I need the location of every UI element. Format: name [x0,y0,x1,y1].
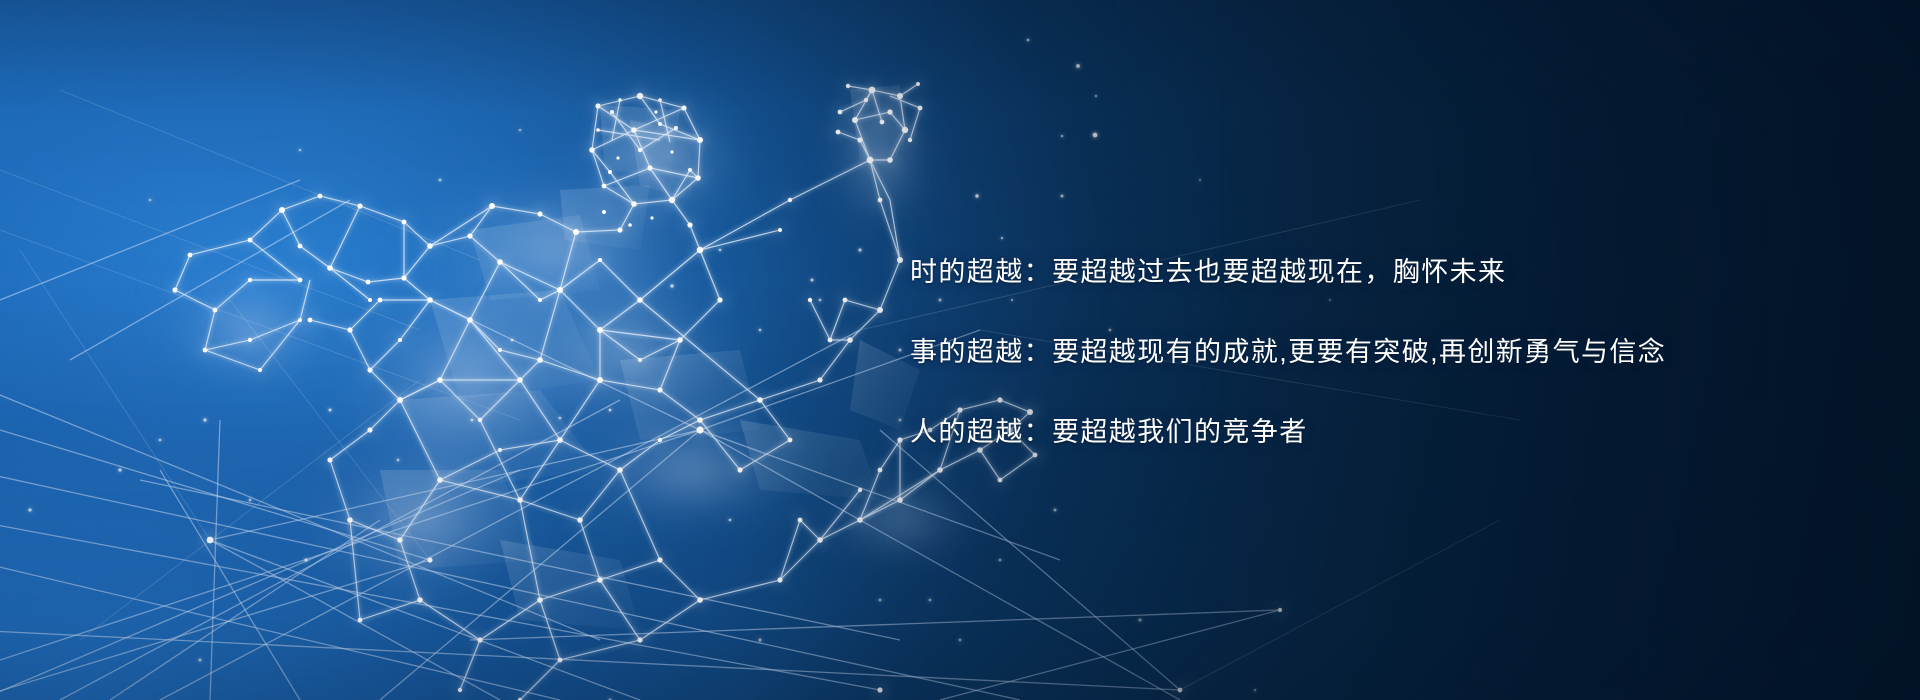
slogan-line-2: 事的超越：要超越现有的成就,更要有突破,再创新勇气与信念 [910,312,1810,392]
slogan-line-1: 时的超越：要超越过去也要超越现在，胸怀未来 [910,232,1810,312]
slogan-line-3: 人的超越：要超越我们的竞争者 [910,392,1810,472]
slogan-text-block: 时的超越：要超越过去也要超越现在，胸怀未来 事的超越：要超越现有的成就,更要有突… [910,232,1810,472]
hero-banner: 时的超越：要超越过去也要超越现在，胸怀未来 事的超越：要超越现有的成就,更要有突… [0,0,1920,700]
